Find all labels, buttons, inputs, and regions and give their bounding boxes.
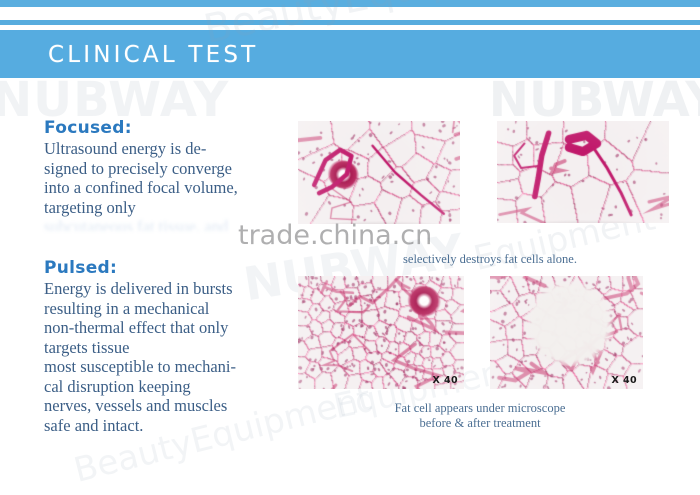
header-accent-bar-top [0,0,700,7]
pulsed-body: Energy is delivered in bursts resulting … [44,279,296,435]
micrograph-canvas-b [497,121,669,223]
micrograph-canvas-d [490,276,643,389]
page-title: CLINICAL TEST [48,40,258,70]
micrograph-canvas-a [298,121,460,224]
micrograph-top-right [497,121,669,223]
magnification-label-left: X 40 [433,375,458,386]
watermark-nubway-right: NUBWAY [489,72,700,128]
magnification-label-right: X 40 [612,375,637,386]
micrograph-top-left [298,121,460,224]
pulsed-text-block: Pulsed: Energy is delivered in bursts re… [44,258,296,435]
focused-heading: Focused: [44,118,294,138]
micrograph-canvas-c [298,276,464,389]
micrograph-bottom-right: X 40 [490,276,643,389]
pulsed-heading: Pulsed: [44,258,296,278]
bottom-figure-caption: Fat cell appears under microscope before… [330,401,630,431]
header-accent-bar-thin [0,20,700,25]
focused-body: Ultrasound energy is de- signed to preci… [44,139,294,217]
focused-text-block: Focused: Ultrasound energy is de- signed… [44,118,294,231]
top-figure-caption: selectively destroys fat cells alone. [330,252,650,267]
slide-root: CLINICAL TEST BeautyEquipment NUBWAY NUB… [0,0,700,495]
focused-obscured-line: subcutaneous fat tissue, and [44,217,294,231]
micrograph-bottom-left: X 40 [298,276,464,389]
